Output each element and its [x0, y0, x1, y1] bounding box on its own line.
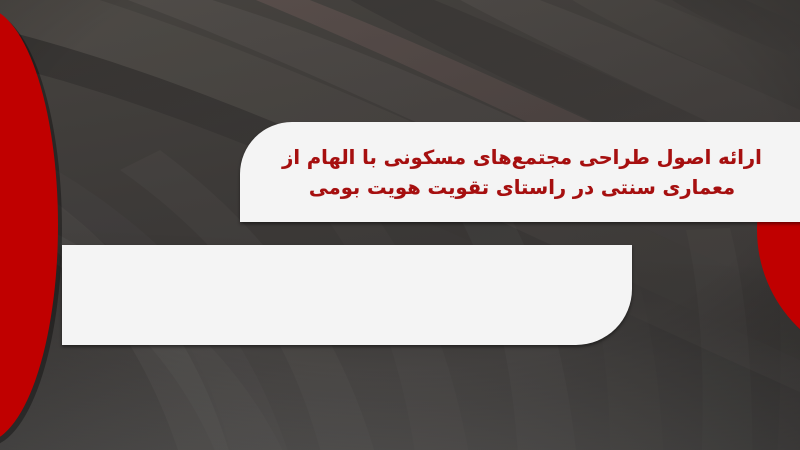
title-slide: ارائه اصول طراحی مجتمع‌های مسکونی با اله…	[0, 0, 800, 450]
slide-title-placeholder[interactable]: ارائه اصول طراحی مجتمع‌های مسکونی با اله…	[240, 122, 800, 222]
page-title: ارائه اصول طراحی مجتمع‌های مسکونی با اله…	[266, 143, 778, 202]
slide-background-art	[0, 0, 800, 450]
slide-subtitle-placeholder[interactable]	[62, 245, 632, 345]
